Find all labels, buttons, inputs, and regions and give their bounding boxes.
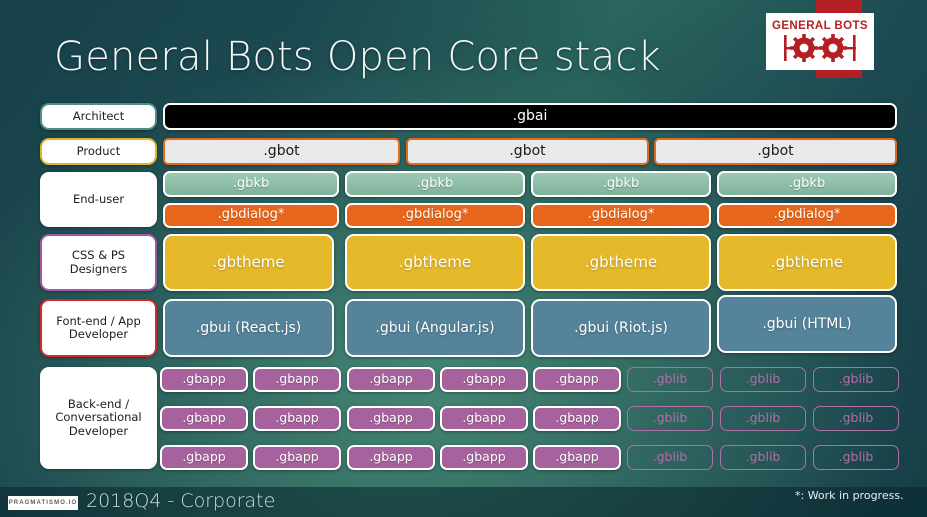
pragmatismo-badge: PRAGMATISMO.IO (8, 496, 78, 510)
stack-block-gbui-angular[interactable]: .gbui (Angular.js) (345, 299, 525, 357)
logo-wordmark: GENERAL BOTS (772, 21, 868, 33)
stack-block-gbot[interactable]: .gbot (654, 138, 897, 165)
stack-chip-gbapp[interactable]: .gbapp (253, 445, 341, 470)
stack-block-gbdialog[interactable]: .gbdialog* (345, 203, 525, 228)
general-bots-logo: GENERAL BOTS (766, 13, 874, 70)
footer-caption: 2018Q4 - Corporate (86, 490, 275, 512)
stack-block-gbot[interactable]: .gbot (163, 138, 400, 165)
stack-chip-gbapp[interactable]: .gbapp (347, 406, 435, 431)
role-label-product: Product (40, 138, 157, 165)
page-title: General Bots Open Core stack (54, 36, 661, 78)
role-label-back-end-conversational-developer: Back-end / Conversational Developer (40, 367, 157, 469)
stack-chip-gblib[interactable]: .gblib (813, 445, 899, 470)
stack-block-gbtheme[interactable]: .gbtheme (163, 234, 334, 291)
stack-block-gbtheme[interactable]: .gbtheme (531, 234, 711, 291)
stack-chip-gbapp[interactable]: .gbapp (533, 445, 621, 470)
role-label-front-end-app-developer: Font-end / App Developer (40, 299, 157, 357)
stack-block-gbkb[interactable]: .gbkb (531, 171, 711, 197)
stack-chip-gblib[interactable]: .gblib (720, 367, 806, 392)
role-label-css-ps-designers: CSS & PS Designers (40, 234, 157, 291)
stack-chip-gblib[interactable]: .gblib (813, 406, 899, 431)
stack-chip-gbapp[interactable]: .gbapp (347, 445, 435, 470)
stack-chip-gbapp[interactable]: .gbapp (440, 367, 528, 392)
stack-chip-gblib[interactable]: .gblib (720, 445, 806, 470)
pragmatismo-badge-label: PRAGMATISMO.IO (9, 500, 78, 506)
stack-block-gbtheme[interactable]: .gbtheme (717, 234, 897, 291)
stack-chip-gblib[interactable]: .gblib (627, 406, 713, 431)
gears-icon (776, 34, 864, 62)
stack-chip-gbapp[interactable]: .gbapp (253, 367, 341, 392)
stack-chip-gbapp[interactable]: .gbapp (533, 367, 621, 392)
stack-block-gbkb[interactable]: .gbkb (345, 171, 525, 197)
stack-block-gbdialog[interactable]: .gbdialog* (163, 203, 339, 228)
stack-chip-gblib[interactable]: .gblib (813, 367, 899, 392)
stack-chip-gblib[interactable]: .gblib (720, 406, 806, 431)
work-in-progress-note: *: Work in progress. (795, 489, 904, 502)
stack-chip-gblib[interactable]: .gblib (627, 367, 713, 392)
stack-block-gbui-react[interactable]: .gbui (React.js) (163, 299, 334, 357)
stack-block-gbui-riot[interactable]: .gbui (Riot.js) (531, 299, 711, 357)
stack-block-gbdialog[interactable]: .gbdialog* (531, 203, 711, 228)
stack-chip-gbapp[interactable]: .gbapp (533, 406, 621, 431)
stack-chip-gblib[interactable]: .gblib (627, 445, 713, 470)
slide-canvas: GENERAL BOTS (0, 0, 927, 517)
stack-block-gbot[interactable]: .gbot (406, 138, 649, 165)
role-label-architect: Architect (40, 103, 157, 130)
stack-chip-gbapp[interactable]: .gbapp (160, 367, 248, 392)
stack-chip-gbapp[interactable]: .gbapp (160, 406, 248, 431)
stack-block-gbai[interactable]: .gbai (163, 103, 897, 130)
stack-block-gbkb[interactable]: .gbkb (717, 171, 897, 197)
stack-chip-gbapp[interactable]: .gbapp (440, 406, 528, 431)
stack-chip-gbapp[interactable]: .gbapp (160, 445, 248, 470)
stack-chip-gbapp[interactable]: .gbapp (440, 445, 528, 470)
stack-block-gbui-html[interactable]: .gbui (HTML) (717, 295, 897, 353)
stack-chip-gbapp[interactable]: .gbapp (347, 367, 435, 392)
stack-block-gbdialog[interactable]: .gbdialog* (717, 203, 897, 228)
stack-chip-gbapp[interactable]: .gbapp (253, 406, 341, 431)
role-label-end-user: End-user (40, 172, 157, 227)
stack-block-gbtheme[interactable]: .gbtheme (345, 234, 525, 291)
stack-block-gbkb[interactable]: .gbkb (163, 171, 339, 197)
